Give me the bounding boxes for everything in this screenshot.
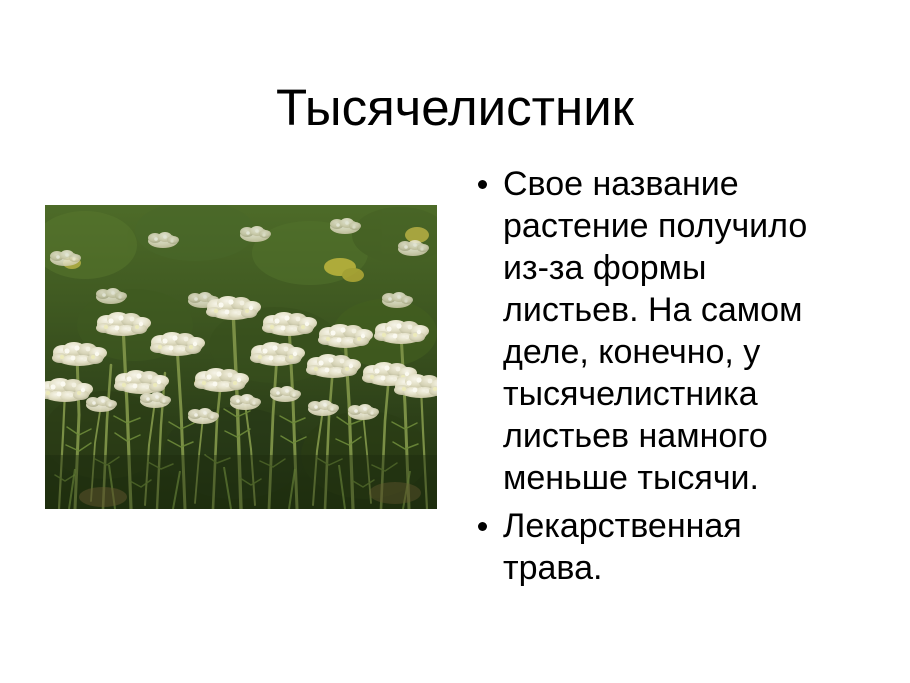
disc-bullet-icon	[478, 522, 487, 531]
list-item-text: Лекарственная трава.	[503, 505, 890, 589]
page-title: Тысячелистник	[0, 78, 910, 138]
bullet-list: Свое название растение получило из-за фо…	[470, 163, 890, 589]
list-item: Лекарственная трава.	[470, 505, 890, 589]
yarrow-photo-illustration	[45, 205, 437, 509]
yarrow-photo	[45, 205, 437, 509]
disc-bullet-icon	[478, 180, 487, 189]
list-item: Свое название растение получило из-за фо…	[470, 163, 890, 499]
presentation-slide: Тысячелистник	[0, 0, 910, 683]
list-item-text: Свое название растение получило из-за фо…	[503, 163, 890, 499]
